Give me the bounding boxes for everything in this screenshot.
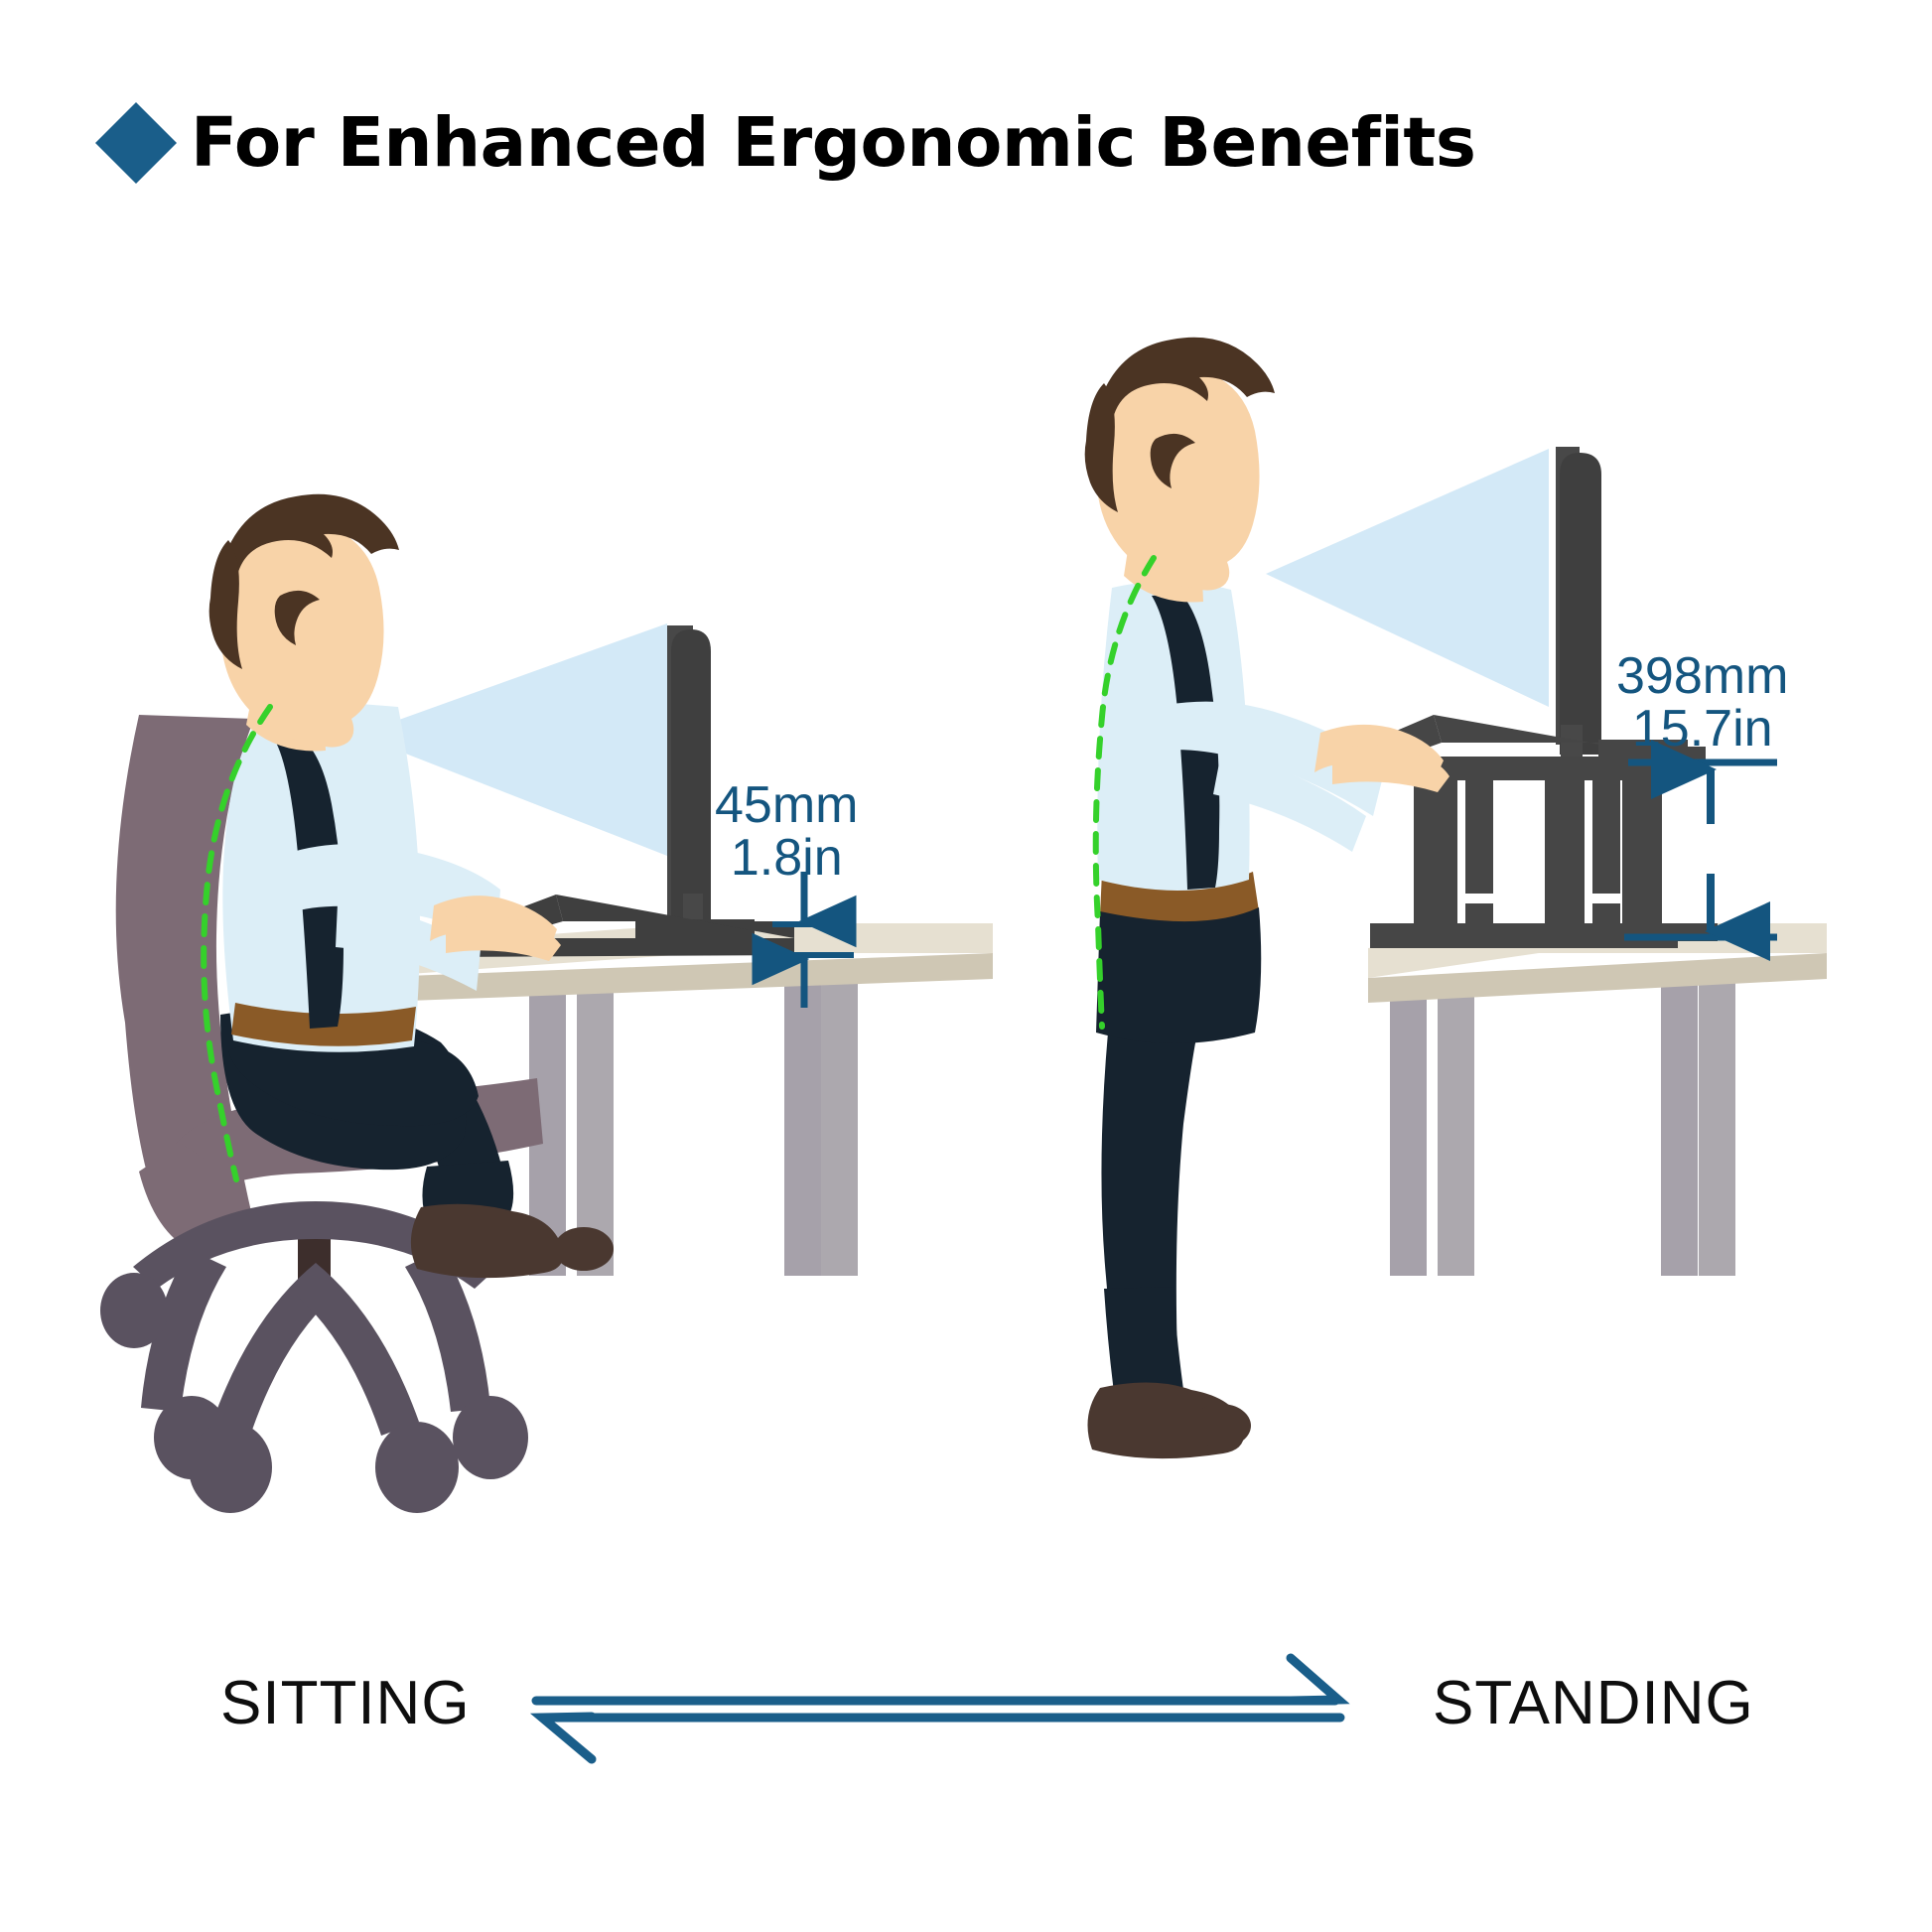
sitting-scene [100, 494, 993, 1513]
illustration-layer [0, 0, 1932, 1932]
dimension-label-sitting: 45mm 1.8in [715, 779, 858, 885]
desk-legs-standing [1390, 978, 1735, 1276]
scene-caption-standing: STANDING [1433, 1668, 1754, 1738]
shoe-standing [1088, 1382, 1252, 1458]
monitor-standing [1556, 447, 1601, 772]
dimension-mm-standing: 398mm [1616, 647, 1788, 705]
standing-scene [1085, 338, 1827, 1458]
person-standing [1085, 338, 1449, 1458]
dimension-in-sitting: 1.8in [715, 832, 858, 885]
dimension-mm-sitting: 45mm [715, 776, 858, 834]
vision-cone-standing [1266, 449, 1549, 707]
sitting-standing-transition-arrow [536, 1658, 1340, 1759]
dimension-label-standing: 398mm 15.7in [1616, 650, 1788, 756]
infographic-canvas: For Enhanced Ergonomic Benefits [0, 0, 1932, 1932]
scene-caption-sitting: SITTING [220, 1668, 471, 1738]
dimension-in-standing: 15.7in [1616, 703, 1788, 756]
